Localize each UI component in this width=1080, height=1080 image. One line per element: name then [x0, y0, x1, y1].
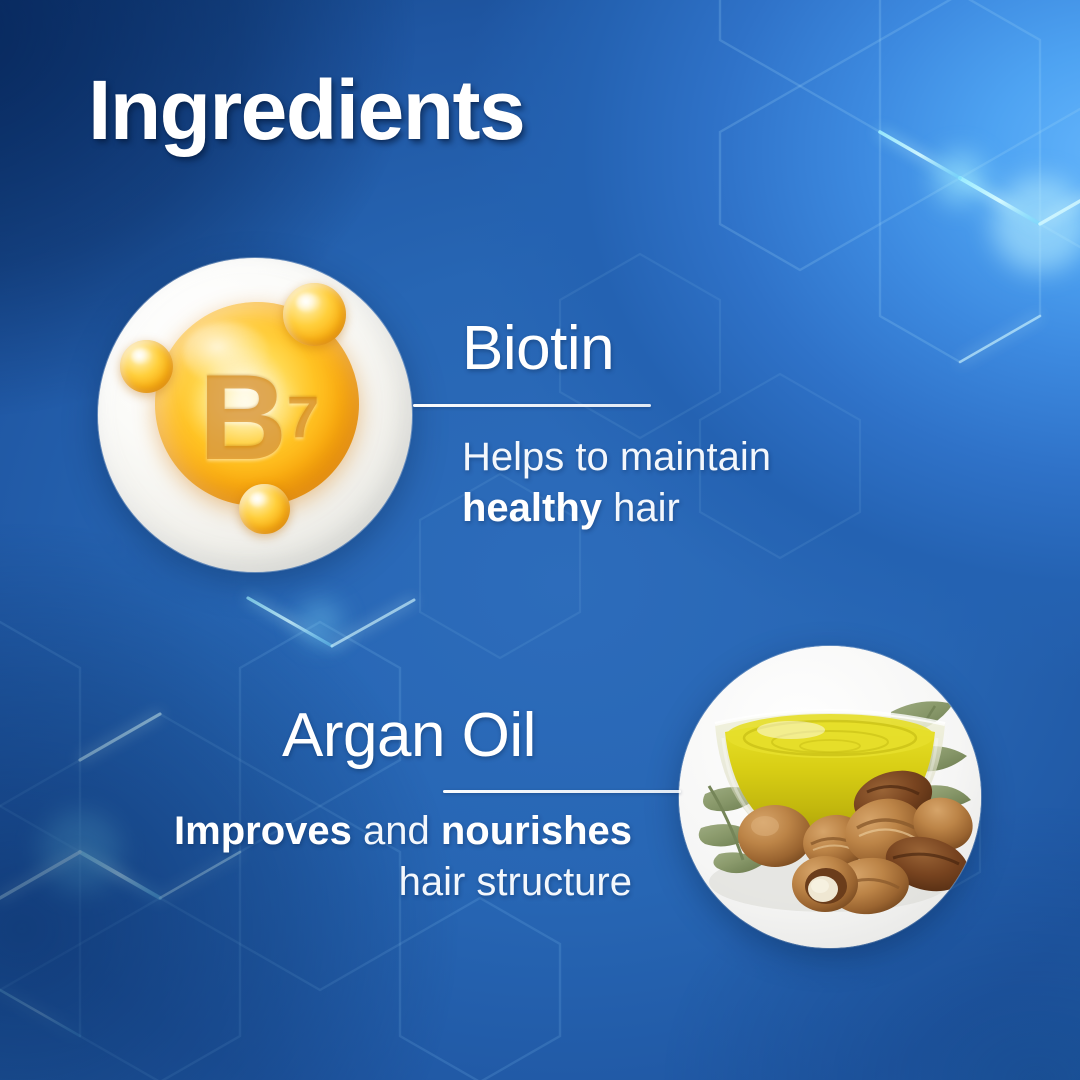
argan-desc-plain: and [352, 809, 441, 853]
ingredient-description-biotin: Helps to maintain healthy hair [462, 432, 771, 534]
capsule-letter: B [199, 347, 285, 487]
capsule-superscript: 7 [287, 384, 317, 451]
argan-oil-divider-rule [443, 790, 681, 793]
biotin-divider-rule [413, 404, 651, 407]
capsule-droplet-top-left [120, 340, 173, 393]
ingredient-description-argan-oil: Improves and nourishes hair structure [124, 806, 632, 908]
ingredients-poster: Ingredients B7 Biotin Helps to maintain … [0, 0, 1080, 1080]
page-title: Ingredients [88, 62, 524, 159]
argan-desc-bold-2: nourishes [441, 809, 632, 853]
capsule-droplet-bottom [239, 484, 289, 534]
biotin-icon-circle: B7 [98, 258, 412, 572]
capsule-droplet-top-right [283, 283, 346, 346]
argan-desc-line2: hair structure [399, 860, 632, 904]
biotin-desc-bold: healthy [462, 486, 602, 530]
argan-oil-photo-circle [679, 646, 981, 948]
argan-desc-bold-1: Improves [174, 809, 352, 853]
biotin-desc-line1: Helps to maintain [462, 435, 771, 479]
ingredient-name-argan-oil: Argan Oil [282, 700, 536, 771]
argan-oil-illustration [679, 646, 981, 948]
ingredient-name-biotin: Biotin [462, 313, 614, 384]
biotin-desc-line2: hair [602, 486, 680, 530]
